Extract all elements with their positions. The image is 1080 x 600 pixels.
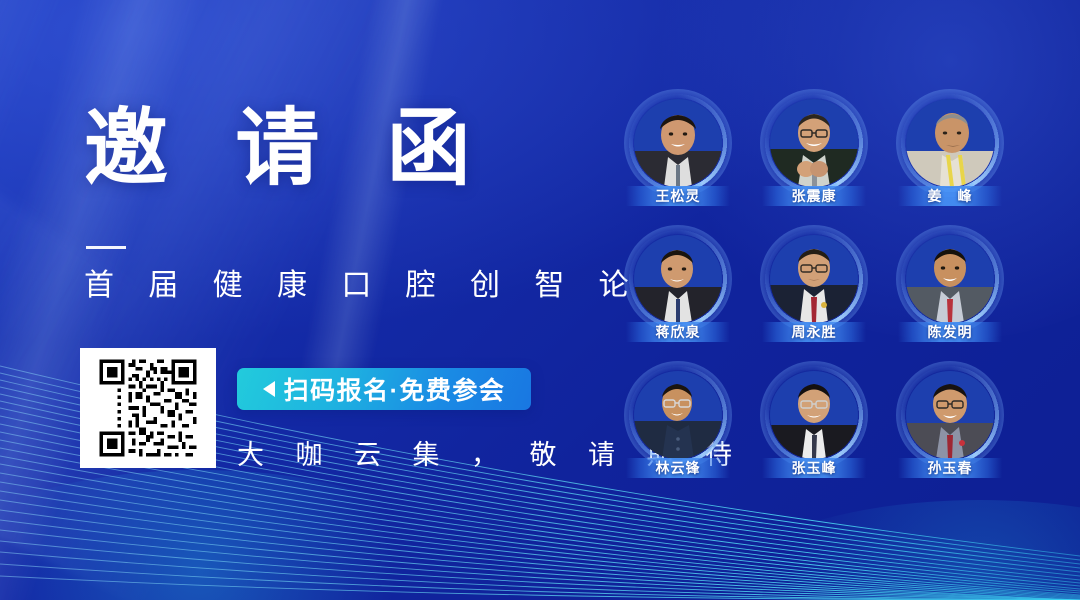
speaker-name-plate: 陈发明	[898, 322, 1002, 342]
speaker-card[interactable]: 周永胜	[764, 229, 864, 349]
avatar	[770, 371, 858, 459]
title-divider	[86, 246, 126, 249]
avatar	[770, 99, 858, 187]
speaker-name-plate: 孙玉春	[898, 458, 1002, 478]
event-subtitle: 首 届 健 康 口 腔 创 智 论 坛	[84, 266, 706, 305]
speaker-card[interactable]: 王松灵	[628, 93, 728, 213]
speaker-card[interactable]: 林云锋	[628, 365, 728, 485]
speaker-name: 林云锋	[656, 458, 701, 478]
speaker-name: 周永胜	[792, 322, 837, 342]
speaker-name-plate: 周永胜	[762, 322, 866, 342]
speaker-name: 陈发明	[928, 322, 973, 342]
scan-register-button[interactable]: 扫码报名·免费参会	[237, 368, 531, 410]
left-content: 邀 请 函 首 届 健 康 口 腔 创 智 论 坛	[0, 0, 620, 600]
avatar	[906, 99, 994, 187]
speaker-card[interactable]: 张玉峰	[764, 365, 864, 485]
speaker-card[interactable]: 蒋欣泉	[628, 229, 728, 349]
avatar	[634, 371, 722, 459]
speaker-card[interactable]: 姜 峰	[900, 93, 1000, 213]
speaker-name: 姜 峰	[928, 186, 973, 206]
speaker-name-plate: 张震康	[762, 186, 866, 206]
avatar	[906, 371, 994, 459]
speaker-name-plate: 蒋欣泉	[626, 322, 730, 342]
speaker-card[interactable]: 陈发明	[900, 229, 1000, 349]
speaker-name: 孙玉春	[928, 458, 973, 478]
scan-register-label: 扫码报名·免费参会	[284, 371, 506, 407]
qr-code-image[interactable]	[80, 348, 216, 468]
page-title: 邀 请 函	[84, 104, 493, 193]
speaker-name: 王松灵	[656, 186, 701, 206]
speaker-card[interactable]: 张震康	[764, 93, 864, 213]
qr-code-block[interactable]	[80, 348, 220, 472]
avatar	[634, 99, 722, 187]
avatar	[906, 235, 994, 323]
speaker-name-plate: 姜 峰	[898, 186, 1002, 206]
speaker-name: 张震康	[792, 186, 837, 206]
speaker-name-plate: 林云锋	[626, 458, 730, 478]
left-triangle-icon	[263, 381, 275, 397]
speaker-grid: 王松灵	[628, 93, 1000, 485]
avatar	[634, 235, 722, 323]
speaker-card[interactable]: 孙玉春	[900, 365, 1000, 485]
speaker-name-plate: 王松灵	[626, 186, 730, 206]
speaker-name: 张玉峰	[792, 458, 837, 478]
speaker-name-plate: 张玉峰	[762, 458, 866, 478]
avatar	[770, 235, 858, 323]
invitation-poster: 邀 请 函 首 届 健 康 口 腔 创 智 论 坛	[0, 0, 1080, 600]
speaker-name: 蒋欣泉	[656, 322, 701, 342]
